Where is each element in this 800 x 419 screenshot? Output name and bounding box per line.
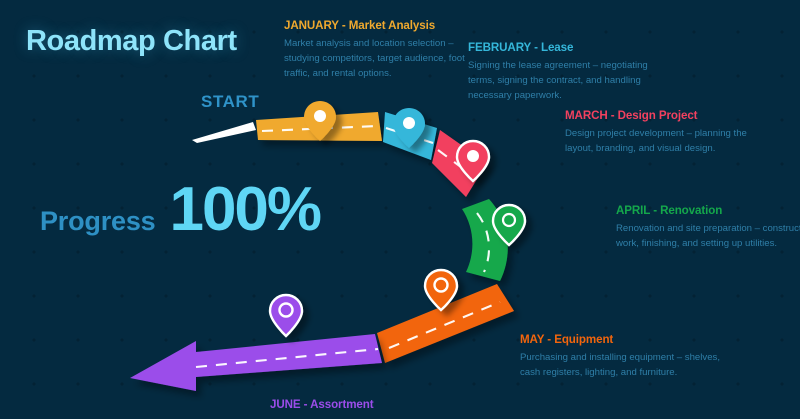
milestone-block-march: MARCH - Design Project Design project de… bbox=[565, 109, 765, 157]
milestone-body-january: Market analysis and location selection –… bbox=[284, 37, 484, 82]
milestone-body-may: Purchasing and installing equipment – sh… bbox=[520, 351, 720, 381]
milestone-heading-february: FEBRUARY - Lease bbox=[468, 41, 668, 54]
milestone-block-april: APRIL - Renovation Renovation and site p… bbox=[616, 204, 800, 252]
milestone-body-april: Renovation and site preparation – constr… bbox=[616, 222, 800, 252]
milestone-heading-april: APRIL - Renovation bbox=[616, 204, 800, 217]
milestone-body-february: Signing the lease agreement – negotiatin… bbox=[468, 59, 668, 104]
start-arrow-icon bbox=[192, 122, 256, 143]
milestone-block-february: FEBRUARY - Lease Signing the lease agree… bbox=[468, 41, 668, 104]
roadmap-infographic: Roadmap Chart Progress 100% START bbox=[0, 0, 800, 419]
map-pin-june[interactable] bbox=[270, 295, 302, 336]
milestone-heading-may: MAY - Equipment bbox=[520, 333, 720, 346]
milestone-block-june: JUNE - Assortment bbox=[270, 398, 470, 416]
milestone-heading-march: MARCH - Design Project bbox=[565, 109, 765, 122]
road-segment-june bbox=[130, 334, 382, 391]
milestone-block-may: MAY - Equipment Purchasing and installin… bbox=[520, 333, 720, 381]
milestone-body-march: Design project development – planning th… bbox=[565, 127, 765, 157]
milestone-heading-january: JANUARY - Market Analysis bbox=[284, 19, 484, 32]
milestone-block-january: JANUARY - Market Analysis Market analysi… bbox=[284, 19, 484, 82]
milestone-heading-june: JUNE - Assortment bbox=[270, 398, 470, 411]
